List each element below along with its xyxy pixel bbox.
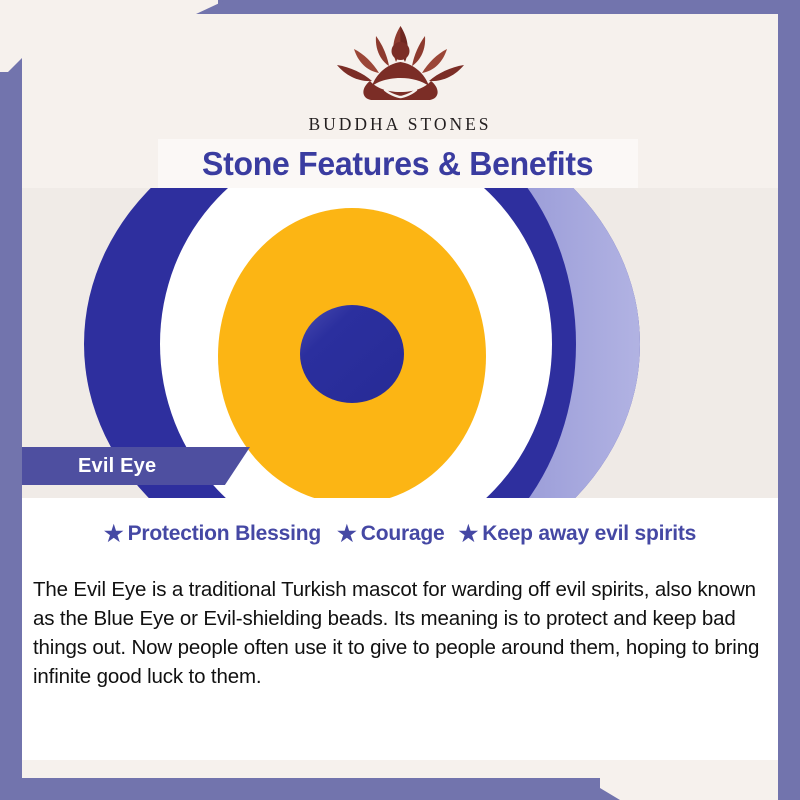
frame-band-left (0, 72, 22, 800)
benefit-item-protection-blessing: ★ Protection Blessing (104, 522, 321, 546)
brand-logo: BUDDHA STONES (0, 18, 800, 138)
hero-label: Evil Eye (78, 455, 156, 478)
lotus-meditation-icon (313, 18, 488, 110)
status-badge: Evil Eye (22, 447, 250, 485)
benefit-item-courage: ★ Courage (337, 522, 445, 546)
frame-band-bottom (0, 776, 600, 800)
page-title-panel: Stone Features & Benefits (158, 139, 638, 189)
star-icon: ★ (459, 523, 479, 545)
star-icon: ★ (104, 523, 124, 545)
benefit-label: Courage (361, 522, 445, 546)
description-text: The Evil Eye is a traditional Turkish ma… (33, 575, 773, 691)
benefit-label: Keep away evil spirits (482, 522, 696, 546)
benefit-label: Protection Blessing (128, 522, 321, 546)
page-title: Stone Features & Benefits (202, 145, 593, 183)
frame-band-top (218, 0, 800, 14)
benefits-list: ★ Protection Blessing ★ Courage ★ Keep a… (22, 518, 778, 550)
brand-name: BUDDHA STONES (308, 114, 491, 135)
frame-wedge-top-left (196, 0, 226, 14)
benefit-item-keep-away-evil-spirits: ★ Keep away evil spirits (459, 522, 697, 546)
star-icon: ★ (337, 523, 357, 545)
infographic-card: BUDDHA STONES Stone Features & Benefits (0, 0, 800, 800)
sheet-bottom-fade (22, 760, 778, 778)
